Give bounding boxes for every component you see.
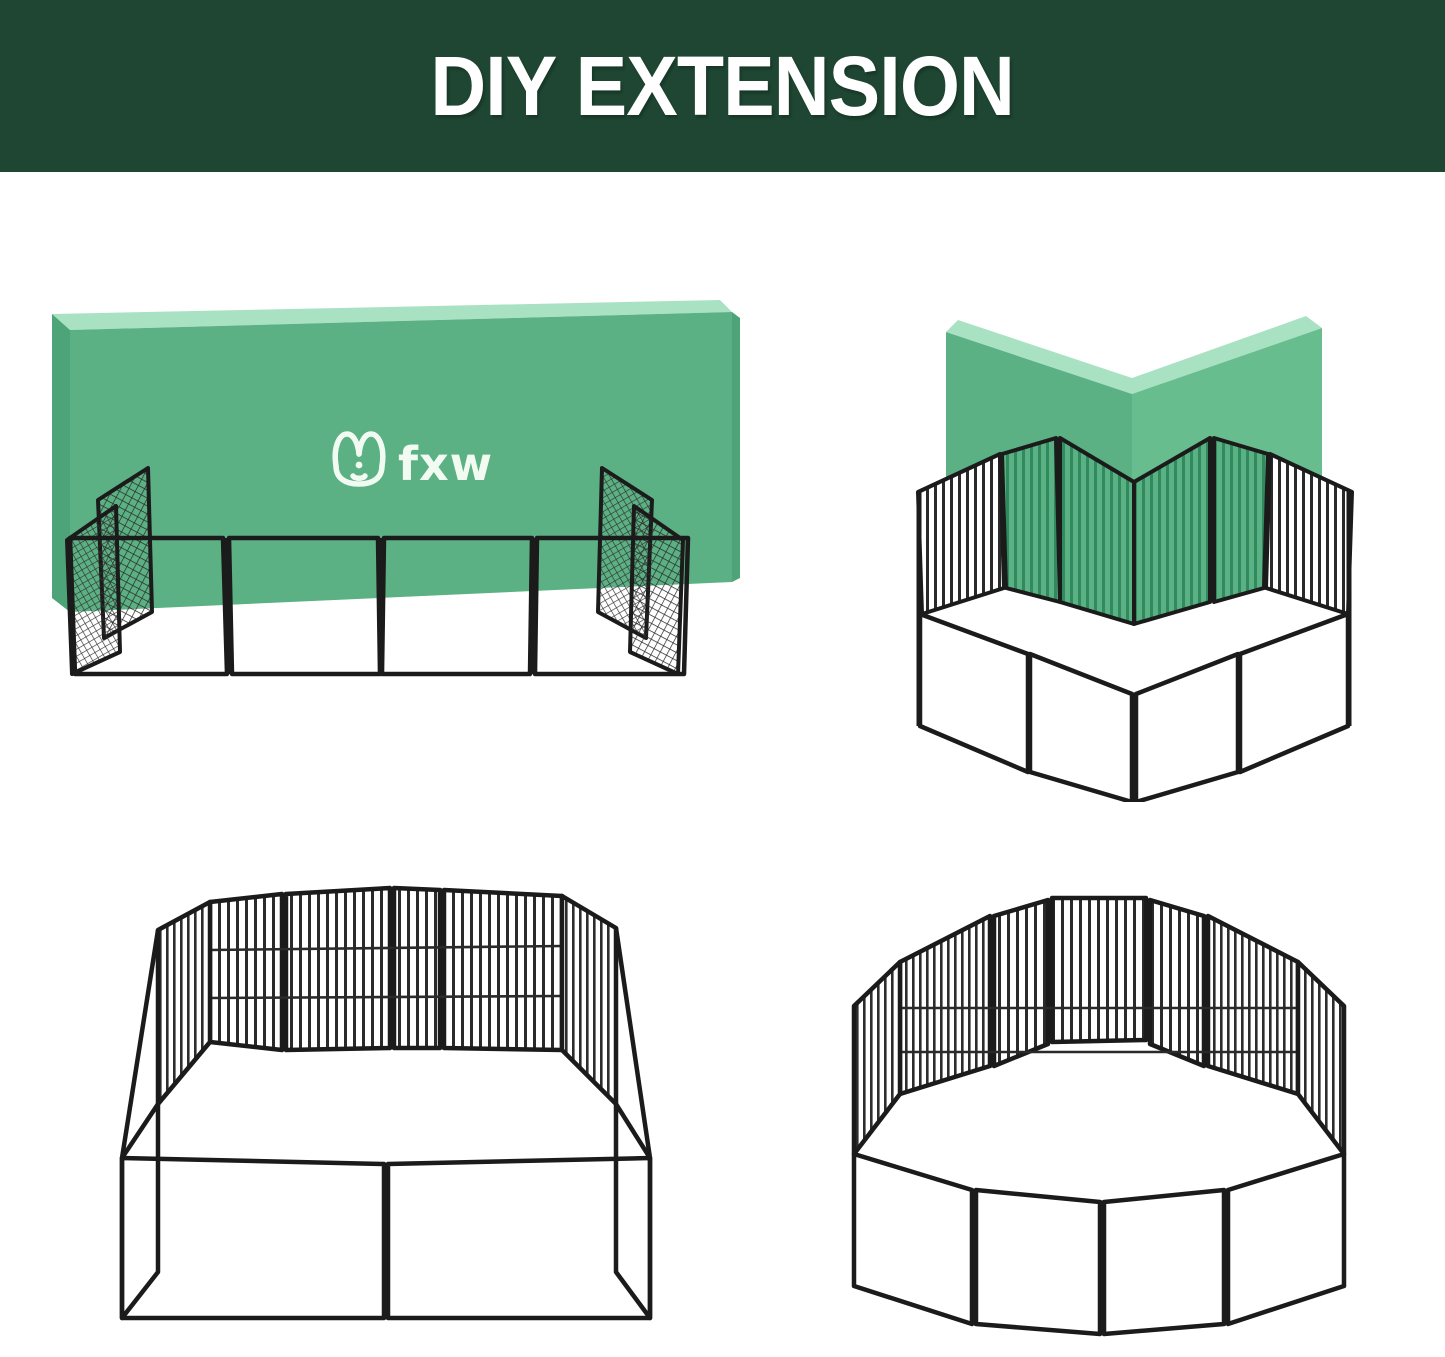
hinge-post-3 [533,538,534,674]
front-panel-left-inner [1030,654,1132,802]
octagon-pen-svg [800,872,1400,1342]
octagon-rear-panels [900,898,1298,1094]
straight-wall-svg: fxw [40,282,740,802]
edge-left-upper [122,930,158,1158]
brand-logo: fxw [335,434,493,491]
edge-right-upper [616,928,650,1158]
octagon-panel-5 [1208,916,1298,1094]
wall-right-side [732,312,740,582]
illustration-corner-wall-extension [870,302,1390,802]
side-panel-right [562,896,616,1104]
front-panel-center-left [122,1158,384,1318]
front-panel-center-right [388,1158,650,1318]
hinge-post-1 [226,538,230,674]
illustration-octagon-pen [800,872,1400,1342]
octagon-front-panels [854,1154,1344,1334]
illustration-square-pen [110,872,710,1342]
corner-wall-svg [870,302,1390,802]
rear-panel-3 [394,888,440,1048]
header-banner: DIY EXTENSION [0,0,1445,172]
octagon-panel-right-lower [1298,962,1344,1154]
side-panel-right [1266,454,1352,614]
square-pen-svg [110,872,710,1342]
octagon-panel-3 [1052,898,1146,1042]
brand-logo-text: fxw [398,437,493,491]
octagon-front-center-right [1104,1190,1224,1334]
side-panel-left [918,454,1004,614]
front-panel-left-outer [920,614,1028,772]
octagon-front-center-left [976,1190,1100,1334]
octagon-front-left [854,1154,972,1324]
illustration-straight-wall-extension: fxw [40,282,740,802]
rear-panel-right-outer [1214,438,1268,602]
front-panel-right-inner [1136,654,1238,802]
rear-panel-1 [210,894,282,1050]
octagon-panel-2 [994,900,1048,1066]
rear-panel-left-outer [1002,438,1060,602]
octagon-front-right [1228,1154,1344,1324]
side-panel-left [158,902,210,1104]
page-title: DIY EXTENSION [431,44,1015,128]
front-panel-right-outer [1240,614,1348,772]
octagon-panel-1 [900,916,990,1094]
octagon-panel-4 [1150,900,1204,1066]
illustration-gallery: fxw [0,172,1445,1357]
rear-panel-4 [444,890,562,1050]
octagon-panel-left-lower [854,962,900,1154]
rear-panel-2 [286,888,390,1050]
pen-rear-panels [210,888,562,1050]
